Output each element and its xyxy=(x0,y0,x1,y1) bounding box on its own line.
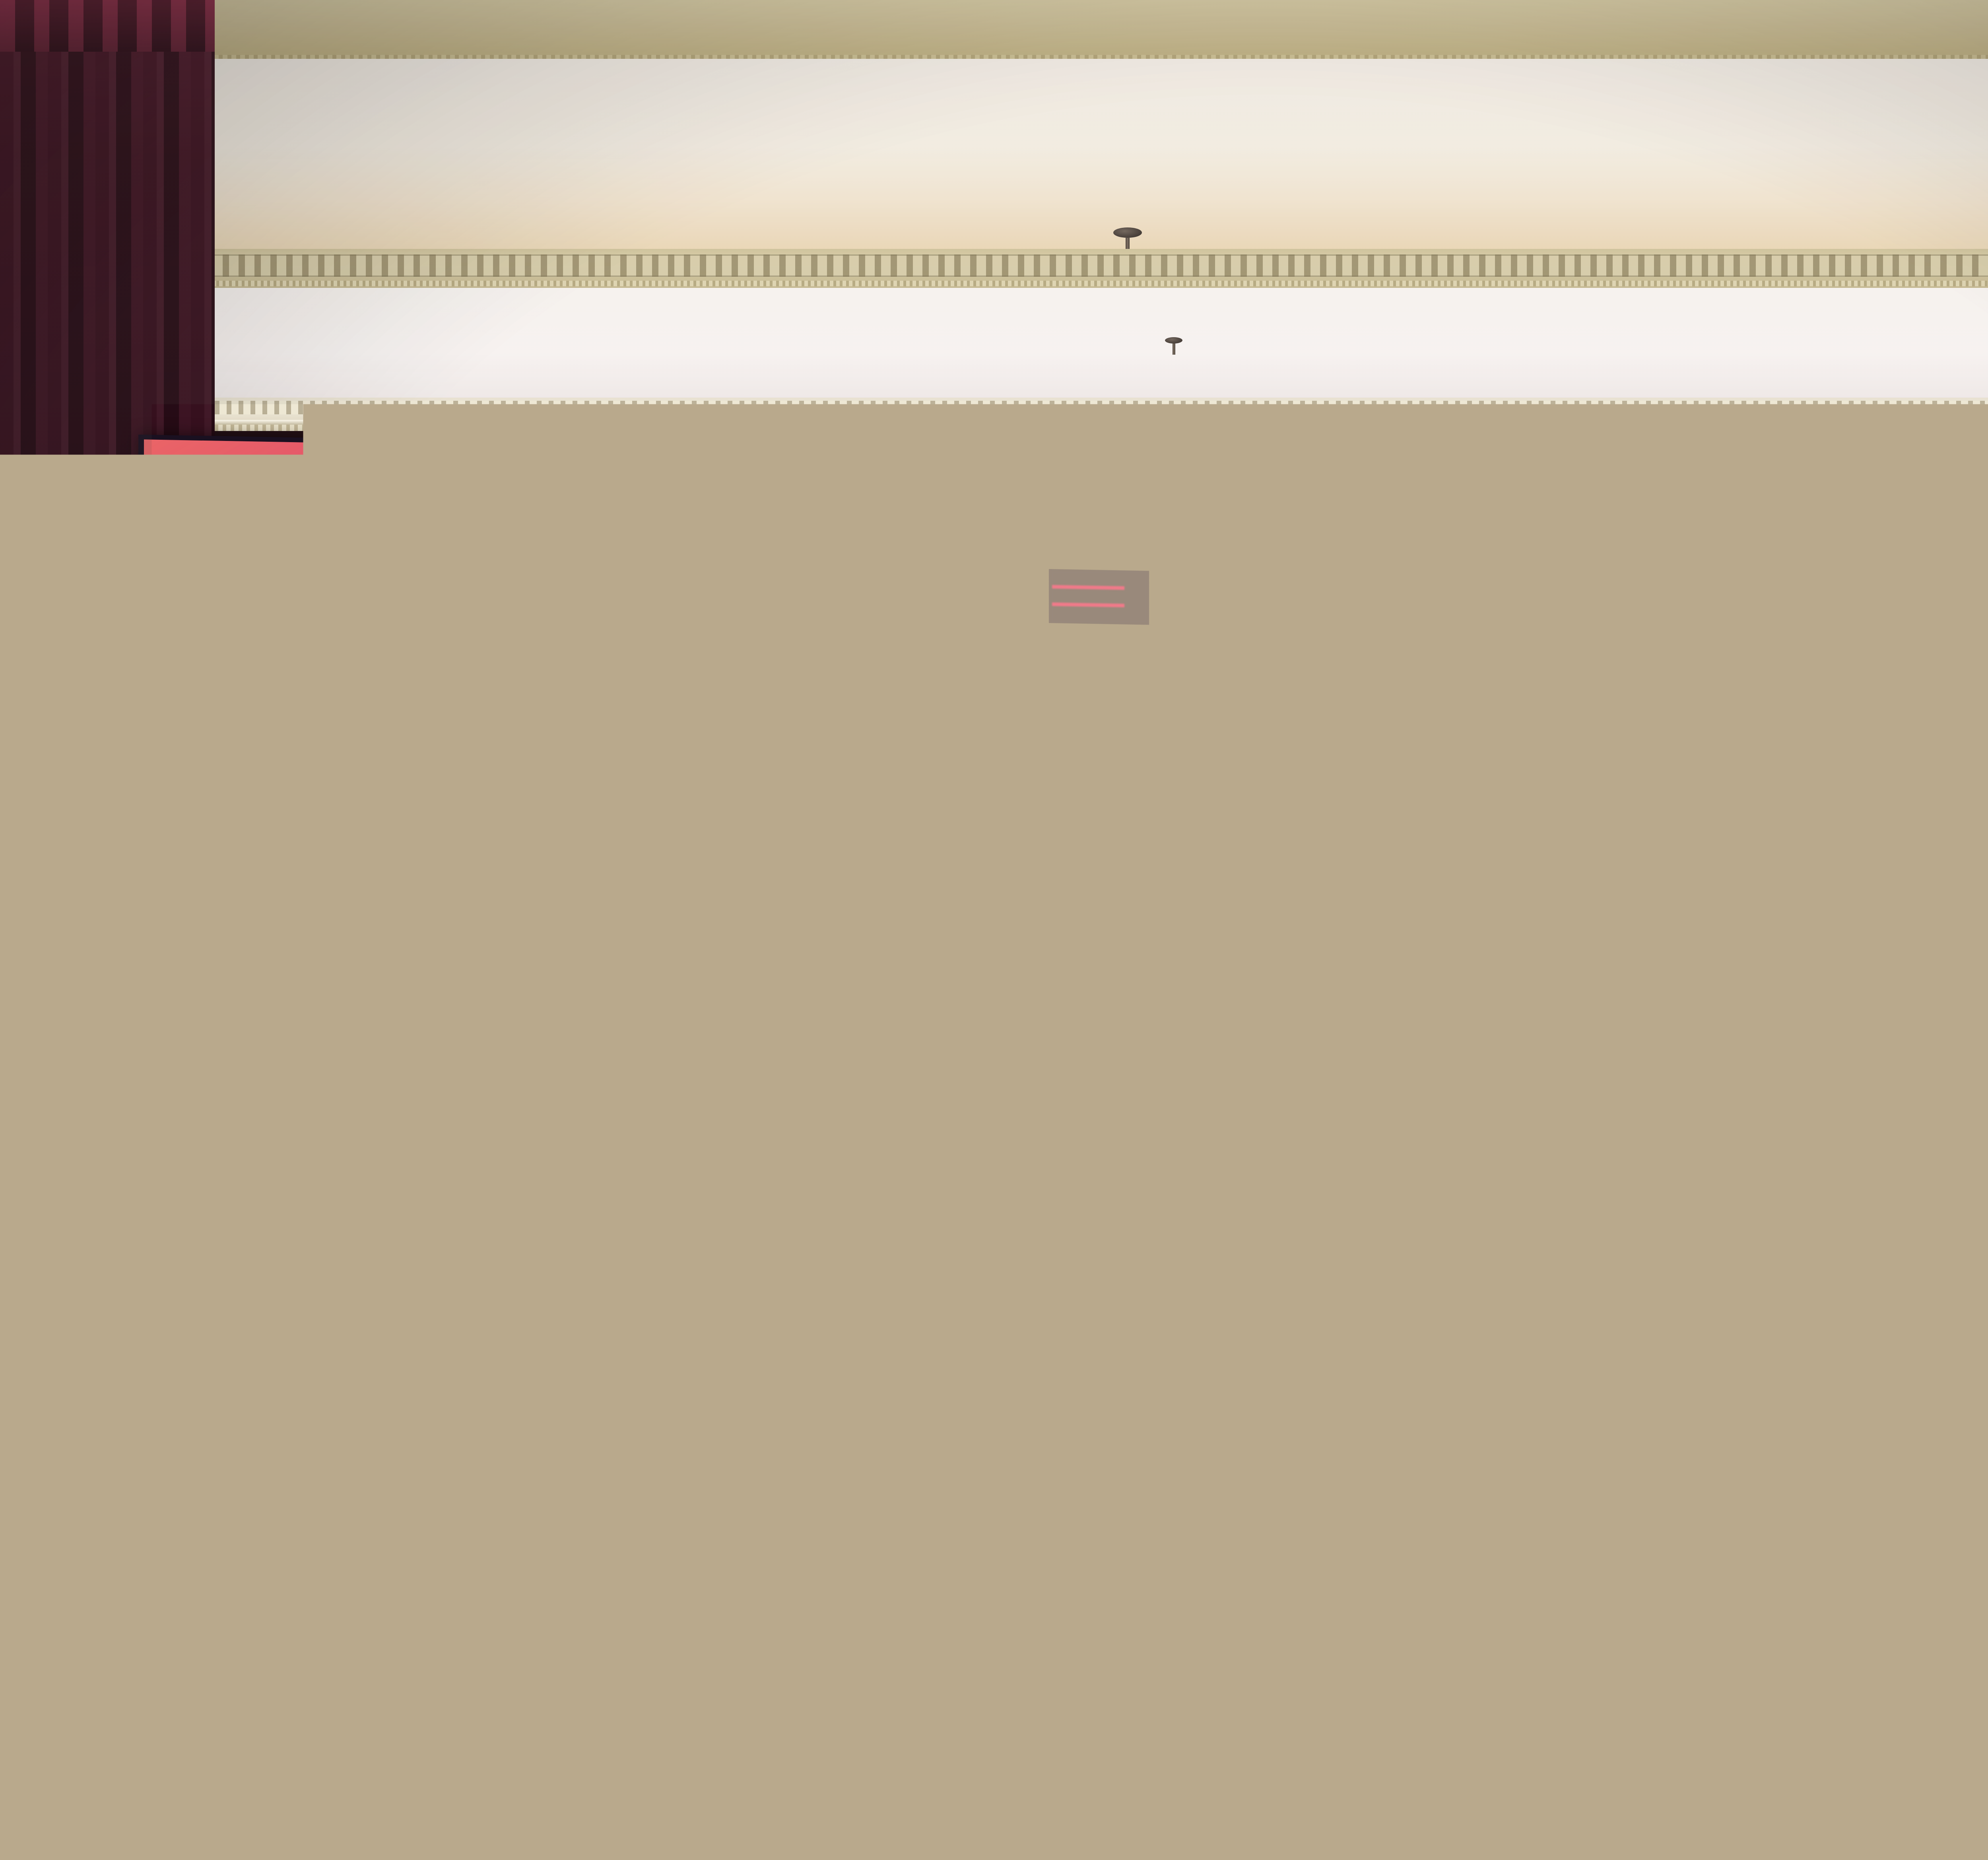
slide-bottom-ribbon-decoration xyxy=(144,1126,1554,1267)
slide-paragraph: 市委将召开六届八次全会，深入贯彻落实党的二十届四中全会精神。要按照中央和市委部署… xyxy=(262,676,1451,852)
paragraph-prefix: 市委将召开 xyxy=(328,684,495,725)
bowtie-inlay-icon xyxy=(254,1521,304,1567)
bullet-separator xyxy=(600,1044,601,1082)
ceiling-upper-beam xyxy=(0,0,1988,59)
cornice-molding-upper xyxy=(0,249,1988,288)
redacted-region xyxy=(1049,569,1149,625)
slide-title-bar: 全力以赴抓好全会精神贯彻落实 xyxy=(355,554,1239,629)
bullet-number-badge: 01 xyxy=(272,926,309,964)
ceiling-plane-lower xyxy=(0,288,1988,398)
name-placard: 曾 勇 xyxy=(1948,1185,1988,1245)
bowtie-inlay-icon xyxy=(851,1527,900,1573)
terrazzo-floor xyxy=(0,1726,1988,1860)
ceiling-plane-upper xyxy=(0,59,1988,254)
slide-bullet-list: 01 掀起学习贯彻党的二十届四中全会精神热潮。 02 高质量做好“十五五”规划编… xyxy=(250,895,1455,1144)
bullet-number-badge: 02 xyxy=(550,1044,588,1082)
cornice-molding-lower xyxy=(0,398,1988,431)
section-number-label: 四 xyxy=(283,563,321,602)
slide-white-card: 四 全力以赴抓好全会精神贯彻落实 市委将召开六届八次全会，深入贯彻落实党的二十届… xyxy=(191,488,1511,1144)
list-item: 01 掀起学习贯彻党的二十届四中全会精神热潮。 xyxy=(250,895,1121,1009)
bowtie-inlay-icon xyxy=(1447,1531,1497,1577)
water-bottle xyxy=(1897,1157,1937,1288)
slide-title-row: 四 全力以赴抓好全会精神贯彻落实 xyxy=(250,552,1233,629)
led-display-screen: 四 全力以赴抓好全会精神贯彻落实 市委将召开六届八次全会，深入贯彻落实党的二十届… xyxy=(138,435,1558,1272)
section-number-badge: 四 xyxy=(245,552,343,612)
bullet-text: 掀起学习贯彻党的二十届四中全会精神热潮。 xyxy=(340,922,1000,980)
gooseneck-microphone[interactable] xyxy=(1749,1089,1805,1328)
bullet-separator xyxy=(321,926,323,964)
paragraph-highlight: 六届八次全会 xyxy=(495,687,695,728)
bullet-text: 高质量做好“十五五”规划编制工作。 xyxy=(619,1041,1158,1097)
list-item: 02 高质量做好“十五五”规划编制工作。 xyxy=(529,1013,1392,1127)
sprinkler-head-icon xyxy=(1165,337,1182,355)
conference-hall-photo: 四 全力以赴抓好全会精神贯彻落实 市委将召开六届八次全会，深入贯彻落实党的二十届… xyxy=(0,0,1988,1860)
slide-red-frame: 四 全力以赴抓好全会精神贯彻落实 市委将召开六届八次全会，深入贯彻落实党的二十届… xyxy=(144,439,1554,1267)
slide-title: 全力以赴抓好全会精神贯彻落实 xyxy=(360,557,950,621)
